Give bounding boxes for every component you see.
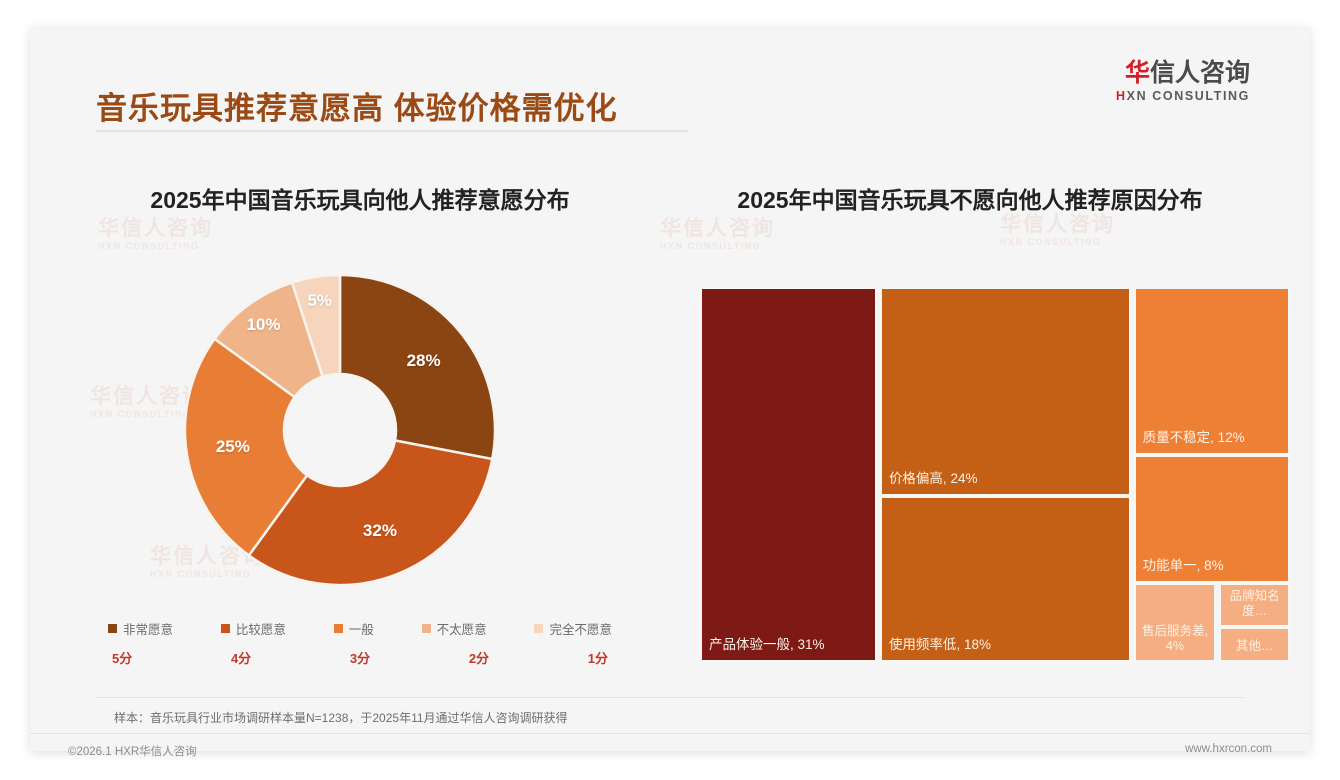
- left-chart-panel: 2025年中国音乐玩具向他人推荐意愿分布 华信人咨询 HXN CONSULTIN…: [70, 145, 650, 665]
- treemap-tile[interactable]: 功能单一, 8%: [1134, 455, 1290, 583]
- legend-label: 不太愿意: [437, 619, 487, 638]
- legend-swatch-icon: [221, 624, 230, 633]
- brand-logo: 华信人咨询 HXN CONSULTING: [1116, 60, 1250, 103]
- donut-slice-label: 28%: [407, 351, 441, 371]
- treemap-tile[interactable]: 质量不稳定, 12%: [1134, 287, 1290, 455]
- slide-header: 音乐玩具推荐意愿高 体验价格需优化 华信人咨询 HXN CONSULTING: [30, 27, 1310, 125]
- logo-en-rest: XN CONSULTING: [1127, 89, 1250, 103]
- legend-swatch-icon: [108, 624, 117, 633]
- legend-swatch-icon: [422, 624, 431, 633]
- logo-en-accent: H: [1116, 89, 1127, 103]
- legend-swatch-icon: [534, 624, 543, 633]
- treemap-tile[interactable]: 产品体验一般, 31%: [700, 287, 877, 662]
- legend-item[interactable]: 非常愿意: [108, 619, 173, 638]
- treemap-tile-label: 质量不稳定, 12%: [1143, 430, 1283, 447]
- treemap-tile-label: 使用频率低, 18%: [889, 637, 1124, 654]
- watermark: 华信人咨询 HXN CONSULTING: [660, 217, 775, 251]
- treemap-tile[interactable]: 其他…: [1219, 627, 1290, 662]
- treemap-tile-label: 产品体验一般, 31%: [709, 637, 870, 654]
- treemap-tile[interactable]: 售后服务差, 4%: [1134, 583, 1217, 663]
- treemap-tile-label: 其他…: [1221, 639, 1288, 655]
- donut-slice-label: 32%: [363, 521, 397, 541]
- source-divider: [96, 697, 1244, 698]
- source-note: 样本：音乐玩具行业市场调研样本量N=1238，于2025年11月通过华信人咨询调…: [114, 709, 568, 726]
- legend-label: 非常愿意: [123, 619, 173, 638]
- donut-chart: 28%32%25%10%5%: [125, 245, 585, 625]
- watermark-line2: HXN CONSULTING: [1000, 237, 1115, 247]
- slide-canvas: 音乐玩具推荐意愿高 体验价格需优化 华信人咨询 HXN CONSULTING 2…: [30, 27, 1310, 751]
- score-label: 3分: [350, 648, 370, 667]
- watermark-line2: HXN CONSULTING: [660, 241, 775, 251]
- logo-accent-char: 华: [1125, 59, 1150, 87]
- score-label: 2分: [469, 648, 489, 667]
- treemap-chart: 产品体验一般, 31%价格偏高, 24%使用频率低, 18%质量不稳定, 12%…: [700, 287, 1290, 662]
- title-divider: [96, 130, 688, 132]
- legend-item[interactable]: 完全不愿意: [534, 619, 612, 638]
- legend-label: 一般: [349, 619, 374, 638]
- score-label: 4分: [231, 648, 251, 667]
- donut-slice-label: 10%: [246, 315, 280, 335]
- treemap-tile[interactable]: 品牌知名度…: [1219, 583, 1290, 627]
- left-chart-title: 2025年中国音乐玩具向他人推荐意愿分布: [70, 181, 650, 215]
- treemap-tile-label: 品牌知名度…: [1221, 589, 1288, 620]
- score-label: 5分: [112, 648, 132, 667]
- treemap-tile-label: 价格偏高, 24%: [889, 471, 1124, 488]
- legend-item[interactable]: 比较愿意: [221, 619, 286, 638]
- legend-item[interactable]: 不太愿意: [422, 619, 487, 638]
- treemap-tile[interactable]: 使用频率低, 18%: [880, 496, 1131, 662]
- donut-slice-label: 5%: [307, 291, 332, 311]
- donut-chart-svg: [125, 245, 585, 625]
- footer-divider: [30, 733, 1310, 734]
- logo-rest-chars: 信人咨询: [1150, 59, 1250, 87]
- donut-legend: 非常愿意比较愿意一般不太愿意完全不愿意: [90, 615, 630, 641]
- donut-slice-label: 25%: [216, 437, 250, 457]
- watermark-line1: 华信人咨询: [1000, 213, 1115, 237]
- treemap-tile-label: 功能单一, 8%: [1143, 558, 1283, 575]
- legend-swatch-icon: [334, 624, 343, 633]
- right-chart-title: 2025年中国音乐玩具不愿向他人推荐原因分布: [660, 181, 1280, 215]
- page-title: 音乐玩具推荐意愿高 体验价格需优化: [96, 83, 618, 128]
- logo-english: HXN CONSULTING: [1116, 89, 1250, 103]
- score-label: 1分: [588, 648, 608, 667]
- treemap-tile-label: 售后服务差, 4%: [1136, 624, 1215, 655]
- legend-item[interactable]: 一般: [334, 619, 374, 638]
- watermark-line1: 华信人咨询: [660, 217, 775, 241]
- legend-label: 完全不愿意: [549, 619, 612, 638]
- logo-chinese: 华信人咨询: [1116, 60, 1250, 86]
- donut-score-row: 5分4分3分2分1分: [90, 645, 630, 669]
- right-chart-panel: 2025年中国音乐玩具不愿向他人推荐原因分布 华信人咨询 HXN CONSULT…: [660, 145, 1280, 665]
- treemap-tile[interactable]: 价格偏高, 24%: [880, 287, 1131, 496]
- legend-label: 比较愿意: [236, 619, 286, 638]
- footer-website[interactable]: www.hxrcon.com: [1185, 743, 1272, 755]
- watermark-line1: 华信人咨询: [98, 217, 213, 241]
- watermark: 华信人咨询 HXN CONSULTING: [1000, 213, 1115, 247]
- footer-copyright: ©2026.1 HXR华信人咨询: [68, 743, 197, 759]
